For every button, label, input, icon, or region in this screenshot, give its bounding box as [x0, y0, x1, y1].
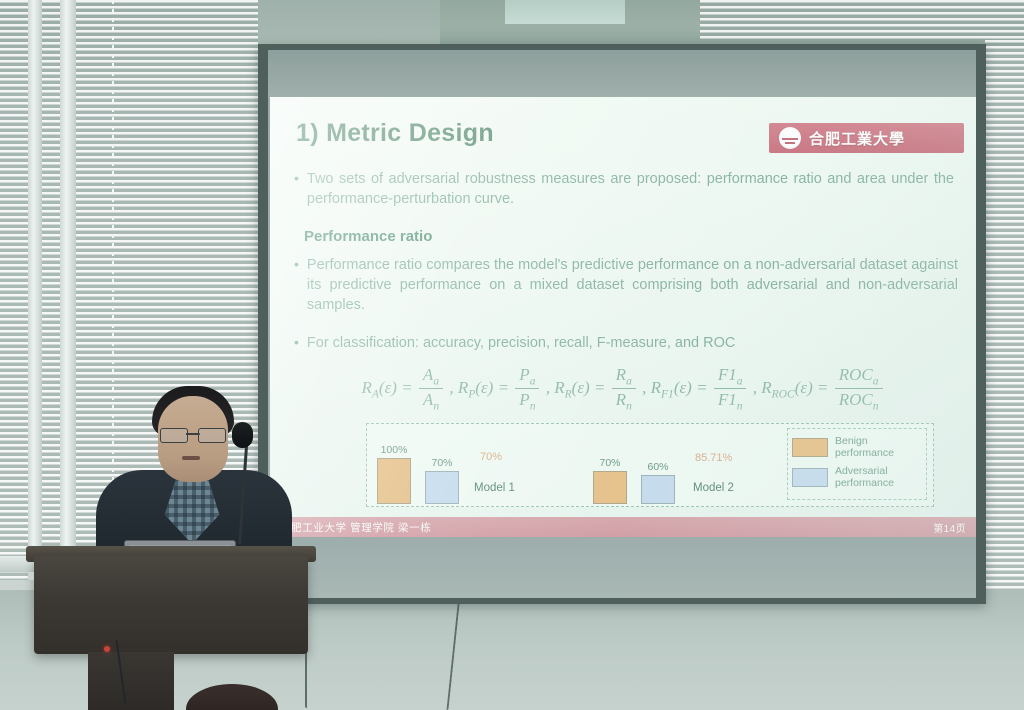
microphone-led-indicator: [104, 646, 110, 652]
screen-bottom-band: [268, 536, 976, 598]
formula-term: RA(ε) = AaAn: [361, 378, 445, 397]
formula-term: RROC(ε) = ROCaROCn: [761, 378, 884, 397]
university-logo-banner: 合肥工業大學: [769, 123, 964, 153]
metric-formula: RA(ε) = AaAn , RP(ε) = PaPn , RR(ε) = Ra…: [270, 365, 976, 413]
bar-rect: [425, 471, 459, 504]
ratio-label-model-2: 85.71%: [695, 452, 732, 464]
photo-scene: 1) Metric Design 合肥工業大學 • Two sets of ad…: [0, 0, 1024, 710]
bullet-dot-icon: •: [294, 255, 299, 315]
legend-label-benign: Benign performance: [835, 435, 922, 459]
window-blinds-right: [985, 40, 1024, 640]
bar-rect: [641, 475, 675, 504]
bar-value-label: 100%: [381, 444, 408, 456]
legend-swatch-adversarial: [792, 468, 828, 487]
glasses-lens-left: [160, 428, 188, 443]
bullet-dot-icon: •: [294, 169, 299, 209]
bar-benign-model-1: 100%: [377, 444, 411, 504]
footer-affiliation: 合肥工业大学 管理学院 梁一栋: [280, 520, 431, 535]
bar-rect: [593, 471, 627, 504]
bullet-item-1: • Two sets of adversarial robustness mea…: [294, 169, 954, 209]
microphone-icon: [232, 422, 253, 448]
presentation-slide: 1) Metric Design 合肥工業大學 • Two sets of ad…: [270, 97, 976, 537]
formula-terms: RA(ε) = AaAn , RP(ε) = PaPn , RR(ε) = Ra…: [361, 378, 884, 397]
formula-separator: ,: [541, 378, 554, 397]
wall-ceiling-panel: [505, 0, 625, 24]
glasses-icon: [160, 428, 226, 441]
bar-value-label: 70%: [599, 457, 620, 469]
model-label-2: Model 2: [693, 482, 734, 494]
chart-legend: Benign performance Adversarial performan…: [787, 428, 927, 500]
glasses-lens-right: [198, 428, 226, 443]
podium-base: [88, 652, 174, 710]
footer-page-number: 第14页: [933, 520, 966, 535]
bullet-text-2: Performance ratio compares the model's p…: [307, 255, 958, 315]
formula-separator: ,: [748, 378, 761, 397]
ratio-label-model-1: 70%: [480, 451, 502, 463]
performance-ratio-chart: 100% 70% 70% Model 1 70% 60%: [366, 423, 934, 507]
bullet-item-3: • For classification: accuracy, precisio…: [294, 333, 954, 353]
screen-top-band: [268, 50, 976, 98]
lectern: 武汉纺织大学 WUHAN TEXTILE UNIVERSITY: [34, 556, 308, 654]
university-emblem-icon: [779, 127, 801, 149]
slide-title: 1) Metric Design: [296, 119, 494, 148]
chart-group-model-1: 100% 70%: [377, 444, 459, 504]
bar-benign-model-2: 70%: [593, 457, 627, 504]
speaker-mouth: [182, 456, 200, 460]
slide-subheading: Performance ratio: [304, 228, 432, 245]
bar-rect: [377, 458, 411, 504]
bar-adversarial-model-2: 60%: [641, 461, 675, 504]
legend-label-adversarial: Adversarial performance: [835, 465, 922, 489]
formula-term: RP(ε) = PaPn: [458, 378, 542, 397]
bar-value-label: 60%: [647, 461, 668, 473]
window-mullion-left: [28, 0, 42, 580]
formula-term: RF1(ε) = F1aF1n: [651, 378, 749, 397]
formula-term: RR(ε) = RaRn: [554, 378, 638, 397]
slide-footer-bar: 合肥工业大学 管理学院 梁一栋 第14页: [270, 517, 976, 537]
formula-separator: ,: [445, 378, 458, 397]
chart-group-model-2: 70% 60%: [593, 457, 675, 504]
bar-value-label: 70%: [431, 457, 452, 469]
window-mullion-inner: [60, 0, 76, 580]
legend-item-benign: Benign performance: [792, 435, 922, 459]
university-logo-text: 合肥工業大學: [809, 128, 905, 149]
formula-separator: ,: [638, 378, 651, 397]
bullet-dot-icon: •: [294, 333, 299, 353]
model-label-1: Model 1: [474, 482, 515, 494]
bullet-text-1: Two sets of adversarial robustness measu…: [307, 169, 954, 209]
bar-adversarial-model-1: 70%: [425, 457, 459, 504]
bullet-item-2: • Performance ratio compares the model's…: [294, 255, 958, 315]
legend-item-adversarial: Adversarial performance: [792, 465, 922, 489]
legend-swatch-benign: [792, 438, 828, 457]
window-blinds-top-right: [700, 0, 1024, 40]
bullet-text-3: For classification: accuracy, precision,…: [307, 333, 735, 353]
